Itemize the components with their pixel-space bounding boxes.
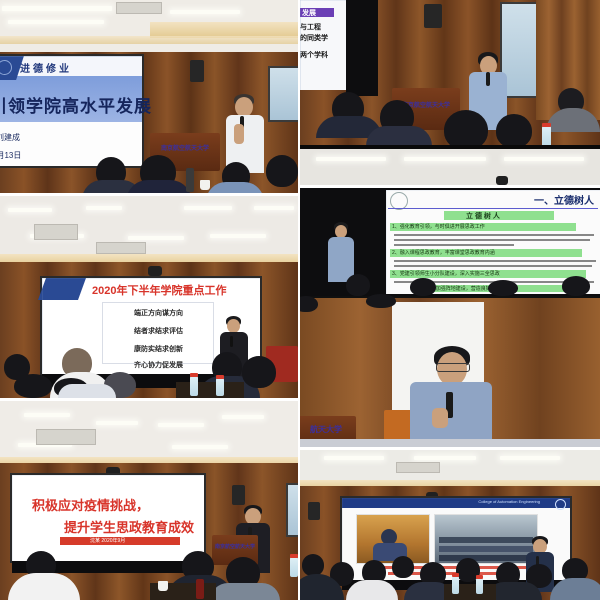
audience-head bbox=[488, 280, 518, 296]
screen-bezel bbox=[346, 0, 378, 96]
microphone bbox=[486, 72, 490, 86]
water-bottle bbox=[186, 168, 194, 192]
collage-panel-bottom-right: College of Automation Engineering bbox=[300, 450, 600, 600]
collage-panel-top-left: 进德修业 引领学院高水平发展 刘建成 9月13日 南京航空航天大学 bbox=[0, 0, 298, 193]
scene-middle-left: 2020年下半年学院重点工作 端正方向谋方向 结者求结求评估 康防实结求创新 齐… bbox=[0, 196, 298, 398]
scene-top-left: 进德修业 引领学院高水平发展 刘建成 9月13日 南京航空航天大学 bbox=[0, 0, 298, 193]
conference-table bbox=[176, 382, 244, 398]
window bbox=[268, 66, 298, 122]
audience-head bbox=[302, 554, 324, 576]
audience-head bbox=[266, 155, 298, 187]
ceiling-light bbox=[2, 6, 112, 11]
bottle-cap bbox=[190, 373, 198, 377]
podium-sign-text: 航天大学 bbox=[300, 424, 356, 435]
water-bottle bbox=[216, 378, 224, 396]
ceiling bbox=[300, 149, 600, 185]
cove-lighting bbox=[0, 36, 298, 44]
ceiling-light bbox=[500, 456, 560, 460]
air-vent bbox=[34, 224, 78, 240]
air-vent bbox=[116, 2, 162, 14]
ceiling-light bbox=[222, 415, 264, 419]
presenter-person bbox=[326, 222, 356, 282]
paper-cup bbox=[158, 581, 168, 591]
photo-collage: 进德修业 引领学院高水平发展 刘建成 9月13日 南京航空航天大学 bbox=[0, 0, 600, 600]
collage-panel-top-right: 发展 与工程 的同类学 两个学科 南京航空航天大学 bbox=[300, 0, 600, 185]
ceiling-camera bbox=[148, 266, 162, 276]
speaker-person bbox=[222, 94, 268, 174]
audience-head bbox=[444, 110, 488, 150]
bottle-cap bbox=[216, 375, 224, 379]
speaker-hand bbox=[432, 408, 448, 428]
ceiling-light bbox=[8, 20, 104, 24]
audience-shoulders bbox=[58, 384, 116, 398]
audience-shoulders bbox=[366, 126, 432, 146]
speaker-head bbox=[235, 97, 253, 117]
ceiling-light bbox=[324, 456, 384, 460]
ceiling-light bbox=[184, 206, 232, 210]
collage-panel-middle-right: 一、立德树人 立 德 树 人 1、强化教育引领，与时俱进开展思政工作 2、融入课… bbox=[300, 188, 600, 447]
audience-head bbox=[242, 356, 276, 388]
audience-head bbox=[496, 114, 532, 148]
ceiling-light bbox=[170, 10, 240, 14]
podium-sign-text: 南京航空航天大学 bbox=[150, 143, 220, 152]
screen-grid bbox=[300, 0, 346, 90]
ceiling-light bbox=[24, 413, 70, 417]
ceiling-light bbox=[172, 445, 228, 449]
water-bottle bbox=[196, 579, 204, 599]
foreground-table bbox=[300, 439, 600, 447]
air-vent bbox=[36, 429, 96, 445]
scene-bottom-right: College of Automation Engineering bbox=[300, 450, 600, 600]
scene-text-slide: 一、立德树人 立 德 树 人 1、强化教育引领，与时俱进开展思政工作 2、融入课… bbox=[300, 188, 600, 296]
audience-head bbox=[392, 556, 414, 578]
bottle-cap bbox=[290, 554, 298, 558]
audience-head bbox=[410, 278, 436, 296]
presenter-head bbox=[227, 319, 240, 333]
window bbox=[286, 483, 298, 537]
ceiling-light bbox=[504, 157, 584, 161]
wall-speaker bbox=[232, 485, 245, 505]
bottle-cap bbox=[542, 123, 551, 127]
audience-head bbox=[562, 276, 590, 296]
audience-shoulders bbox=[210, 583, 280, 600]
water-bottle bbox=[290, 557, 298, 577]
led-video-wall: 积极应对疫情挑战， 提升学生思政教育成效 沈某 2020年9月 bbox=[12, 475, 204, 561]
air-vent bbox=[96, 242, 146, 254]
screen-grid bbox=[0, 56, 142, 166]
water-bottle bbox=[476, 578, 483, 594]
screen-grid bbox=[12, 475, 204, 561]
audience-head bbox=[346, 274, 370, 296]
ceiling-light bbox=[86, 206, 122, 210]
ceiling-light bbox=[210, 234, 266, 238]
ceiling-light bbox=[404, 157, 486, 161]
ceiling-light bbox=[158, 423, 204, 427]
ceiling-light bbox=[8, 208, 52, 212]
ceiling-light bbox=[128, 236, 184, 240]
ceiling-camera bbox=[496, 176, 508, 185]
audience-head bbox=[14, 374, 52, 398]
projection-screen-partial: 发展 与工程 的同类学 两个学科 bbox=[300, 0, 346, 90]
bottle-cap bbox=[476, 575, 483, 579]
bottle-cap bbox=[452, 573, 459, 577]
speaker-person bbox=[408, 346, 494, 446]
collage-panel-middle-left: 2020年下半年学院重点工作 端正方向谋方向 结者求结求评估 康防实结求创新 齐… bbox=[0, 196, 298, 398]
water-bottle bbox=[452, 576, 459, 594]
wall-speaker bbox=[424, 4, 442, 28]
eyeglasses bbox=[436, 363, 470, 372]
scene-speaker-portrait: 航天大学 bbox=[300, 298, 600, 447]
projection-screen: 进德修业 引领学院高水平发展 刘建成 9月13日 bbox=[0, 56, 142, 166]
ceiling-light bbox=[414, 456, 476, 460]
wall-speaker bbox=[308, 502, 320, 520]
collage-panel-bottom-left: 积极应对疫情挑战， 提升学生思政教育成效 沈某 2020年9月 南京航空航天大学 bbox=[0, 401, 298, 600]
podium-sign-text: 南京航空航天大学 bbox=[212, 543, 258, 550]
ceiling-light bbox=[316, 157, 386, 161]
microphone bbox=[230, 336, 233, 347]
audience-head bbox=[366, 294, 396, 308]
paper-cup bbox=[200, 180, 210, 190]
scene-bottom-left: 积极应对疫情挑战， 提升学生思政教育成效 沈某 2020年9月 南京航空航天大学 bbox=[0, 401, 298, 600]
air-vent bbox=[396, 462, 440, 473]
scene-top-right: 发展 与工程 的同类学 两个学科 南京航空航天大学 bbox=[300, 0, 600, 185]
ceiling-light bbox=[96, 421, 138, 425]
wall-speaker bbox=[190, 60, 204, 82]
ceiling-light bbox=[254, 206, 294, 210]
water-bottle bbox=[190, 376, 198, 396]
